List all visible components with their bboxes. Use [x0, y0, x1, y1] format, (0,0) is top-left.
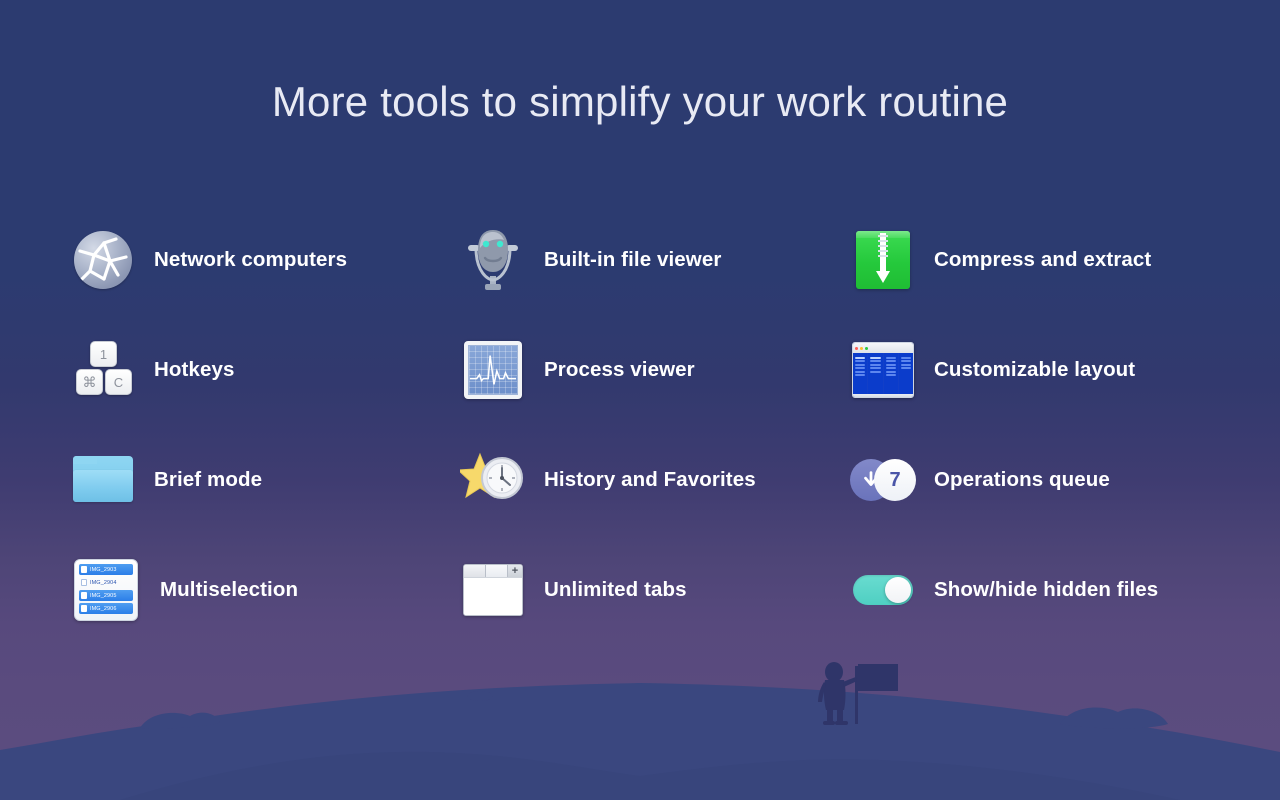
feature-network-computers[interactable]: Network computers: [70, 205, 460, 315]
download-badge-icon: 7: [850, 447, 916, 513]
feature-label: Operations queue: [934, 468, 1110, 492]
feature-label: History and Favorites: [544, 468, 756, 492]
folder-icon: [70, 447, 136, 513]
quicklook-robot-icon: [460, 227, 526, 293]
feature-multiselection[interactable]: IMG_2903 IMG_2904 IMG_2905 IMG_2906: [70, 535, 460, 645]
tab-1: [464, 565, 486, 577]
file-name: IMG_2903: [90, 567, 116, 573]
feature-customizable-layout[interactable]: Customizable layout: [850, 315, 1230, 425]
traffic-light-close-icon: [855, 347, 858, 350]
network-globe-icon: [70, 227, 136, 293]
feature-label: Compress and extract: [934, 248, 1151, 272]
list-item: IMG_2904: [79, 577, 133, 588]
feature-label: Process viewer: [544, 358, 695, 382]
tab-content-area: [464, 577, 522, 616]
list-item: IMG_2905: [79, 590, 133, 601]
feature-brief-mode[interactable]: Brief mode: [70, 425, 460, 535]
zip-archive-icon: [850, 227, 916, 293]
key-1: 1: [90, 341, 117, 367]
file-icon: [81, 592, 87, 599]
file-name: IMG_2904: [90, 580, 116, 586]
file-name: IMG_2906: [90, 606, 116, 612]
file-icon: [81, 566, 87, 573]
key-c: C: [105, 369, 132, 395]
page-title: More tools to simplify your work routine: [0, 78, 1280, 126]
feature-history-and-favorites[interactable]: History and Favorites: [460, 425, 850, 535]
feature-label: Show/hide hidden files: [934, 578, 1158, 602]
feature-show-hide-hidden-files[interactable]: Show/hide hidden files: [850, 535, 1230, 645]
feature-grid: Network computers Built-in file view: [70, 205, 1230, 645]
traffic-light-zoom-icon: [865, 347, 868, 350]
keyboard-keys-icon: 1 ⌘ C: [70, 337, 136, 403]
slide-background: More tools to simplify your work routine: [0, 0, 1280, 800]
feature-built-in-file-viewer[interactable]: Built-in file viewer: [460, 205, 850, 315]
traffic-light-minimize-icon: [860, 347, 863, 350]
list-item: IMG_2906: [79, 603, 133, 614]
window-layout-icon: [850, 337, 916, 403]
file-list-selection-icon: IMG_2903 IMG_2904 IMG_2905 IMG_2906: [70, 557, 142, 623]
feature-label: Hotkeys: [154, 358, 234, 382]
tab-2: [486, 565, 508, 577]
list-item: IMG_2903: [79, 564, 133, 575]
feature-process-viewer[interactable]: Process viewer: [460, 315, 850, 425]
feature-unlimited-tabs[interactable]: + Unlimited tabs: [460, 535, 850, 645]
file-icon: [81, 579, 87, 586]
tabs-window-icon: +: [460, 557, 526, 623]
feature-label: Customizable layout: [934, 358, 1135, 382]
activity-monitor-icon: [460, 337, 526, 403]
feature-operations-queue[interactable]: 7 Operations queue: [850, 425, 1230, 535]
queue-count-badge: 7: [874, 459, 916, 501]
feature-label: Unlimited tabs: [544, 578, 687, 602]
key-command: ⌘: [76, 369, 103, 395]
feature-label: Multiselection: [160, 578, 298, 602]
feature-compress-and-extract[interactable]: Compress and extract: [850, 205, 1230, 315]
feature-label: Network computers: [154, 248, 347, 272]
star-clock-icon: [460, 447, 526, 513]
file-name: IMG_2905: [90, 593, 116, 599]
toggle-switch-icon: [850, 557, 916, 623]
toggle-knob: [885, 577, 911, 603]
feature-label: Brief mode: [154, 468, 262, 492]
astronaut-with-flag: [806, 660, 916, 730]
feature-hotkeys[interactable]: 1 ⌘ C Hotkeys: [70, 315, 460, 425]
new-tab-button: +: [508, 565, 522, 577]
file-icon: [81, 605, 87, 612]
feature-label: Built-in file viewer: [544, 248, 721, 272]
